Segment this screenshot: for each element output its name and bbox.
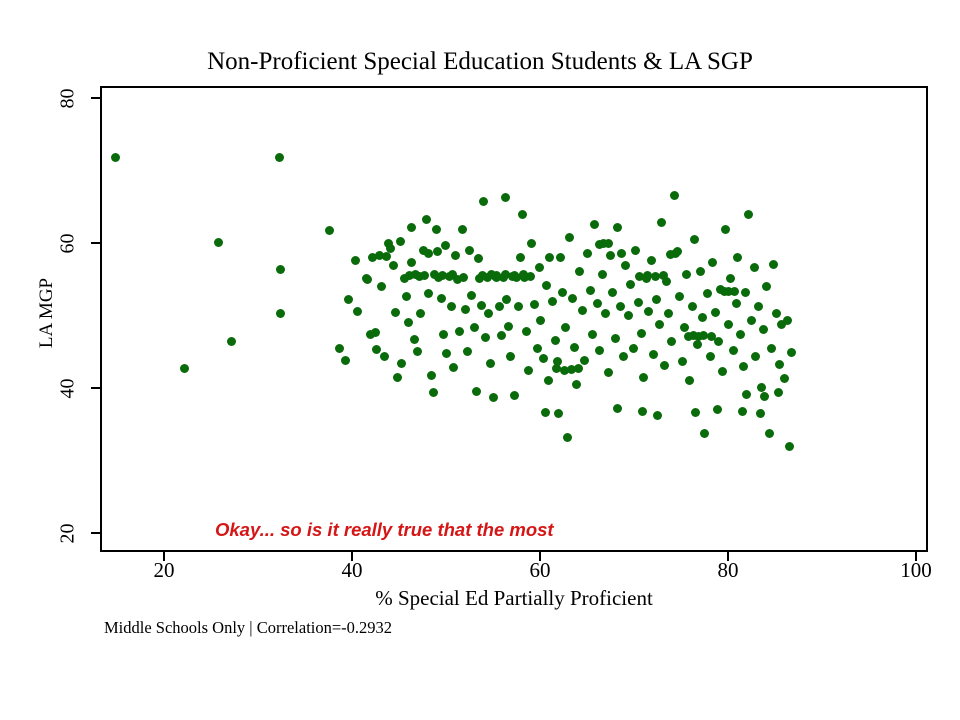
annotation-line-2: effective teachers are in the schools th… bbox=[215, 544, 635, 552]
scatter-point bbox=[657, 218, 666, 227]
scatter-point bbox=[416, 309, 425, 318]
scatter-point bbox=[706, 352, 715, 361]
scatter-point bbox=[353, 307, 362, 316]
scatter-point bbox=[565, 233, 574, 242]
scatter-point bbox=[780, 374, 789, 383]
scatter-point bbox=[575, 267, 584, 276]
scatter-point bbox=[554, 409, 563, 418]
scatter-point bbox=[429, 388, 438, 397]
scatter-point bbox=[678, 357, 687, 366]
scatter-point bbox=[437, 294, 446, 303]
scatter-point bbox=[598, 270, 607, 279]
scatter-point bbox=[637, 329, 646, 338]
scatter-point bbox=[432, 225, 441, 234]
annotation-line-1: Okay... so is it really true that the mo… bbox=[215, 516, 635, 544]
scatter-point bbox=[479, 197, 488, 206]
scatter-point bbox=[396, 237, 405, 246]
y-tick-label-40: 40 bbox=[57, 369, 80, 409]
scatter-point bbox=[542, 281, 551, 290]
scatter-point bbox=[516, 253, 525, 262]
scatter-point bbox=[653, 411, 662, 420]
scatter-point bbox=[530, 300, 539, 309]
scatter-point bbox=[214, 238, 223, 247]
scatter-point bbox=[785, 442, 794, 451]
y-tick-mark-40 bbox=[91, 387, 100, 389]
scatter-point bbox=[608, 288, 617, 297]
x-tick-label-100: 100 bbox=[886, 558, 946, 583]
scatter-point bbox=[767, 344, 776, 353]
scatter-point bbox=[510, 391, 519, 400]
scatter-point bbox=[570, 343, 579, 352]
scatter-point bbox=[747, 316, 756, 325]
scatter-point bbox=[713, 405, 722, 414]
scatter-point bbox=[541, 408, 550, 417]
scatter-point bbox=[424, 289, 433, 298]
scatter-point bbox=[410, 335, 419, 344]
y-tick-mark-60 bbox=[91, 242, 100, 244]
scatter-point bbox=[736, 330, 745, 339]
scatter-point bbox=[477, 301, 486, 310]
scatter-point bbox=[730, 287, 739, 296]
scatter-point bbox=[690, 235, 699, 244]
annotation-callout: Okay... so is it really true that the mo… bbox=[215, 516, 635, 552]
scatter-point bbox=[568, 294, 577, 303]
x-tick-label-40: 40 bbox=[322, 558, 382, 583]
scatter-point bbox=[611, 334, 620, 343]
scatter-point bbox=[495, 302, 504, 311]
scatter-point bbox=[572, 380, 581, 389]
scatter-point bbox=[700, 429, 709, 438]
scatter-point bbox=[742, 390, 751, 399]
scatter-point bbox=[647, 256, 656, 265]
scatter-point bbox=[276, 265, 285, 274]
scatter-point bbox=[341, 356, 350, 365]
scatter-point bbox=[574, 364, 583, 373]
scatter-point bbox=[447, 302, 456, 311]
scatter-point bbox=[757, 383, 766, 392]
scatter-point bbox=[371, 328, 380, 337]
y-tick-label-60: 60 bbox=[57, 224, 80, 264]
scatter-point bbox=[335, 344, 344, 353]
scatter-point bbox=[545, 253, 554, 262]
scatter-point bbox=[404, 318, 413, 327]
scatter-point bbox=[420, 271, 429, 280]
scatter-point bbox=[536, 316, 545, 325]
scatter-point bbox=[481, 333, 490, 342]
scatter-point bbox=[772, 309, 781, 318]
scatter-point bbox=[486, 359, 495, 368]
scatter-point bbox=[624, 311, 633, 320]
scatter-point bbox=[711, 308, 720, 317]
scatter-point bbox=[721, 225, 730, 234]
scatter-point bbox=[693, 340, 702, 349]
scatter-point bbox=[696, 267, 705, 276]
scatter-point bbox=[670, 191, 679, 200]
scatter-point bbox=[467, 291, 476, 300]
scatter-point bbox=[601, 309, 610, 318]
scatter-point bbox=[389, 261, 398, 270]
scatter-point bbox=[729, 346, 738, 355]
scatter-point bbox=[325, 226, 334, 235]
scatter-point bbox=[497, 331, 506, 340]
scatter-point bbox=[438, 271, 447, 280]
scatter-point bbox=[539, 354, 548, 363]
scatter-point bbox=[649, 350, 658, 359]
scatter-point bbox=[518, 210, 527, 219]
scatter-point bbox=[413, 347, 422, 356]
scatter-point bbox=[616, 302, 625, 311]
scatter-point bbox=[613, 223, 622, 232]
scatter-point bbox=[451, 251, 460, 260]
scatter-point bbox=[698, 313, 707, 322]
scatter-point bbox=[621, 261, 630, 270]
scatter-point bbox=[492, 271, 501, 280]
scatter-point bbox=[682, 270, 691, 279]
scatter-point bbox=[644, 307, 653, 316]
y-tick-label-20: 20 bbox=[57, 514, 80, 554]
scatter-point bbox=[750, 263, 759, 272]
scatter-point bbox=[631, 246, 640, 255]
scatter-point bbox=[544, 376, 553, 385]
scatter-point bbox=[548, 297, 557, 306]
scatter-point bbox=[751, 352, 760, 361]
scatter-point bbox=[593, 299, 602, 308]
x-tick-label-20: 20 bbox=[134, 558, 194, 583]
scatter-point bbox=[433, 247, 442, 256]
scatter-point bbox=[578, 306, 587, 315]
scatter-point bbox=[667, 337, 676, 346]
scatter-point bbox=[765, 429, 774, 438]
scatter-point bbox=[762, 282, 771, 291]
scatter-point bbox=[368, 253, 377, 262]
scatter-point bbox=[535, 263, 544, 272]
scatter-point bbox=[703, 289, 712, 298]
x-tick-label-60: 60 bbox=[510, 558, 570, 583]
scatter-point bbox=[655, 320, 664, 329]
scatter-point bbox=[397, 359, 406, 368]
scatter-point bbox=[604, 239, 613, 248]
x-axis-title: % Special Ed Partially Proficient bbox=[100, 586, 928, 611]
scatter-point bbox=[465, 246, 474, 255]
scatter-point bbox=[563, 433, 572, 442]
scatter-point bbox=[441, 241, 450, 250]
scatter-point bbox=[583, 249, 592, 258]
scatter-point bbox=[738, 407, 747, 416]
scatter-point bbox=[556, 253, 565, 262]
scatter-point bbox=[726, 274, 735, 283]
scatter-point bbox=[461, 305, 470, 314]
scatter-point bbox=[449, 363, 458, 372]
scatter-point bbox=[724, 320, 733, 329]
scatter-point bbox=[744, 210, 753, 219]
scatter-point bbox=[606, 251, 615, 260]
scatter-point bbox=[380, 352, 389, 361]
scatter-point bbox=[111, 153, 120, 162]
scatter-point bbox=[524, 366, 533, 375]
scatter-point bbox=[671, 249, 680, 258]
scatter-point bbox=[595, 346, 604, 355]
scatter-point bbox=[685, 376, 694, 385]
scatter-point bbox=[759, 325, 768, 334]
scatter-point bbox=[533, 344, 542, 353]
scatter-point bbox=[707, 332, 716, 341]
scatter-point bbox=[660, 361, 669, 370]
scatter-point bbox=[775, 360, 784, 369]
scatter-point bbox=[769, 260, 778, 269]
scatter-point bbox=[604, 368, 613, 377]
scatter-point bbox=[680, 323, 689, 332]
scatter-point bbox=[514, 302, 523, 311]
scatter-point bbox=[675, 292, 684, 301]
scatter-point bbox=[588, 330, 597, 339]
scatter-point bbox=[484, 309, 493, 318]
scatter-point bbox=[708, 258, 717, 267]
scatter-point bbox=[580, 356, 589, 365]
scatter-point bbox=[634, 298, 643, 307]
scatter-point bbox=[617, 249, 626, 258]
scatter-point bbox=[344, 295, 353, 304]
scatter-point bbox=[629, 344, 638, 353]
scatter-point bbox=[551, 336, 560, 345]
scatter-point bbox=[227, 337, 236, 346]
plot-area: Okay... so is it really true that the mo… bbox=[100, 86, 928, 552]
page-title: Non-Proficient Special Education Student… bbox=[0, 48, 960, 76]
scatter-point bbox=[558, 288, 567, 297]
scatter-point bbox=[393, 373, 402, 382]
scatter-point bbox=[626, 280, 635, 289]
scatter-point bbox=[502, 295, 511, 304]
scatter-point bbox=[458, 225, 467, 234]
scatter-point bbox=[613, 404, 622, 413]
footnote: Middle Schools Only | Correlation=-0.293… bbox=[104, 618, 392, 638]
scatter-point bbox=[506, 352, 515, 361]
scatter-point bbox=[407, 223, 416, 232]
scatter-point bbox=[664, 309, 673, 318]
y-tick-mark-20 bbox=[91, 532, 100, 534]
scatter-point bbox=[377, 282, 386, 291]
scatter-point bbox=[718, 367, 727, 376]
scatter-point bbox=[180, 364, 189, 373]
scatter-point bbox=[382, 252, 391, 261]
scatter-point bbox=[474, 254, 483, 263]
scatter-point bbox=[275, 153, 284, 162]
scatter-point bbox=[756, 409, 765, 418]
scatter-point bbox=[652, 295, 661, 304]
scatter-point bbox=[427, 371, 436, 380]
scatter-point bbox=[422, 215, 431, 224]
scatter-point bbox=[276, 309, 285, 318]
scatter-point bbox=[472, 387, 481, 396]
scatter-point bbox=[459, 273, 468, 282]
scatter-point bbox=[774, 388, 783, 397]
scatter-point bbox=[424, 249, 433, 258]
scatter-point bbox=[561, 323, 570, 332]
scatter-point bbox=[527, 239, 536, 248]
scatter-point bbox=[504, 322, 513, 331]
scatter-point bbox=[391, 308, 400, 317]
scatter-point bbox=[739, 362, 748, 371]
scatter-point bbox=[470, 323, 479, 332]
scatter-point bbox=[754, 302, 763, 311]
scatter-point bbox=[522, 327, 531, 336]
scatter-point bbox=[760, 392, 769, 401]
scatter-point bbox=[407, 258, 416, 267]
y-axis-title: LA MGP bbox=[36, 253, 58, 373]
scatter-point bbox=[783, 316, 792, 325]
x-tick-label-80: 80 bbox=[698, 558, 758, 583]
y-tick-label-80: 80 bbox=[57, 79, 80, 119]
scatter-point bbox=[638, 407, 647, 416]
scatter-point bbox=[351, 256, 360, 265]
scatter-point bbox=[363, 275, 372, 284]
scatter-point bbox=[501, 193, 510, 202]
scatter-point bbox=[489, 393, 498, 402]
scatter-point bbox=[691, 408, 700, 417]
scatter-point bbox=[741, 288, 750, 297]
scatter-points-layer bbox=[102, 88, 926, 550]
scatter-point bbox=[732, 299, 741, 308]
scatter-point bbox=[455, 327, 464, 336]
scatter-point bbox=[619, 352, 628, 361]
scatter-point bbox=[463, 347, 472, 356]
scatter-point bbox=[639, 373, 648, 382]
scatter-point bbox=[688, 302, 697, 311]
y-tick-mark-80 bbox=[91, 97, 100, 99]
scatter-point bbox=[586, 286, 595, 295]
scatter-point bbox=[590, 220, 599, 229]
chart-page: Non-Proficient Special Education Student… bbox=[0, 0, 960, 720]
scatter-point bbox=[787, 348, 796, 357]
scatter-point bbox=[442, 349, 451, 358]
scatter-point bbox=[439, 330, 448, 339]
scatter-point bbox=[402, 292, 411, 301]
scatter-point bbox=[733, 253, 742, 262]
